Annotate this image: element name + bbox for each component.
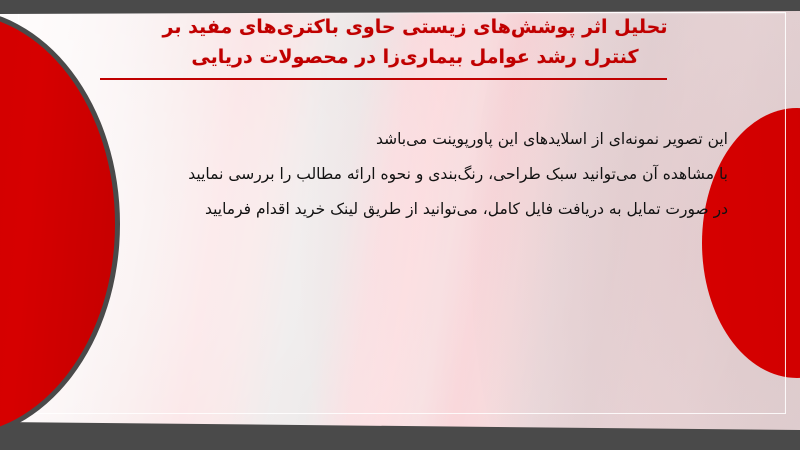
presentation-slide: تحلیل اثر پوشش‌های زیستی حاوی باکتری‌های… — [0, 0, 800, 450]
title-underline — [100, 78, 667, 80]
slide-body: این تصویر نمونه‌ای از اسلایدهای این پاور… — [140, 122, 728, 227]
title-line-1: تحلیل اثر پوشش‌های زیستی حاوی باکتری‌های… — [120, 12, 710, 42]
slide-title: تحلیل اثر پوشش‌های زیستی حاوی باکتری‌های… — [120, 12, 710, 72]
body-line-3: در صورت تمایل به دریافت فایل کامل، می‌تو… — [140, 192, 728, 227]
body-line-2: با مشاهده آن می‌توانید سبک طراحی، رنگ‌بن… — [140, 157, 728, 192]
body-line-1: این تصویر نمونه‌ای از اسلایدهای این پاور… — [140, 122, 728, 157]
title-line-2: کنترل رشد عوامل بیماری‌زا در محصولات دری… — [120, 42, 710, 72]
